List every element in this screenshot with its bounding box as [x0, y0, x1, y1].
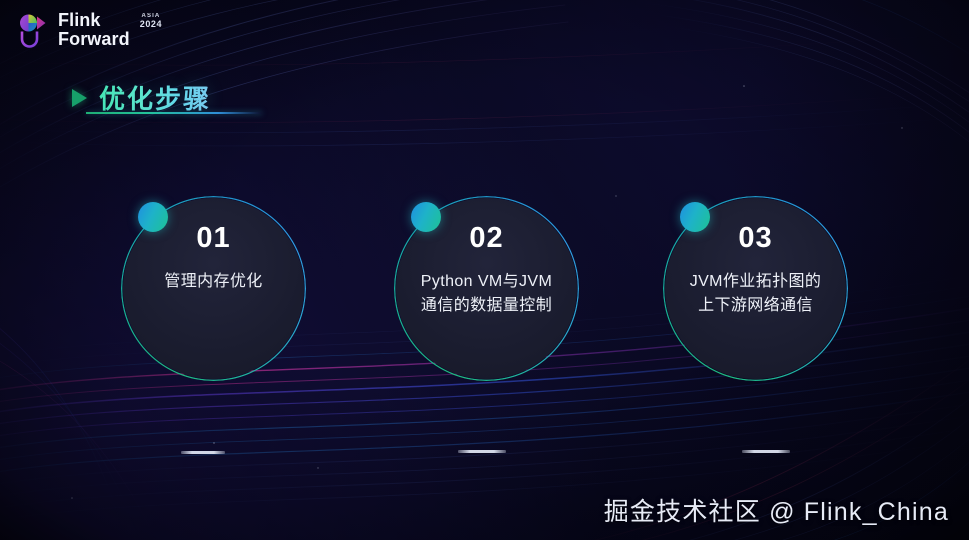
step-circle-01[interactable]: 01 管理内存优化: [121, 196, 306, 381]
event-badge: ASIA 2024: [140, 13, 162, 29]
slide-canvas: Flink Forward ASIA 2024 优化步骤 01 管理内存优化: [0, 0, 969, 540]
brand-name-line1: Flink: [58, 11, 130, 30]
flink-squirrel-logo-icon: [14, 11, 50, 49]
event-year-label: 2024: [140, 20, 162, 29]
steps-group: 01 管理内存优化 02 Python VM与JVM 通信的数据量控制: [0, 190, 969, 390]
step-text-line: 管理内存优化: [134, 270, 294, 294]
step-circle-03[interactable]: 03 JVM作业拓扑图的 上下游网络通信: [663, 196, 848, 381]
play-triangle-icon: [72, 89, 87, 107]
circle-content: 03 JVM作业拓扑图的 上下游网络通信: [663, 196, 848, 381]
section-title-row: 优化步骤: [72, 79, 211, 116]
step-text-line: 通信的数据量控制: [407, 294, 567, 318]
step-text: JVM作业拓扑图的 上下游网络通信: [676, 270, 836, 318]
circle-content: 02 Python VM与JVM 通信的数据量控制: [394, 196, 579, 381]
event-region-label: ASIA: [140, 13, 162, 19]
watermark-text: 掘金技术社区 @ Flink_China: [604, 492, 949, 528]
step-text-line: 上下游网络通信: [676, 294, 836, 318]
step-text: 管理内存优化: [134, 270, 294, 294]
brand-wordmark: Flink Forward: [58, 11, 130, 48]
step-number: 01: [196, 224, 230, 253]
brand-logo: Flink Forward ASIA 2024: [14, 11, 162, 49]
title-underline: [86, 112, 262, 114]
decor-dash: [742, 450, 790, 453]
step-text-line: Python VM与JVM: [407, 270, 567, 294]
step-text-line: JVM作业拓扑图的: [676, 270, 836, 294]
step-circle-02[interactable]: 02 Python VM与JVM 通信的数据量控制: [394, 196, 579, 381]
step-number: 03: [738, 224, 772, 253]
step-number: 02: [469, 224, 503, 253]
page-title: 优化步骤: [99, 79, 211, 116]
step-text: Python VM与JVM 通信的数据量控制: [407, 270, 567, 318]
decor-dash: [181, 451, 225, 454]
circle-content: 01 管理内存优化: [121, 196, 306, 381]
decor-dash: [458, 450, 506, 453]
brand-name-line2: Forward: [58, 30, 130, 49]
